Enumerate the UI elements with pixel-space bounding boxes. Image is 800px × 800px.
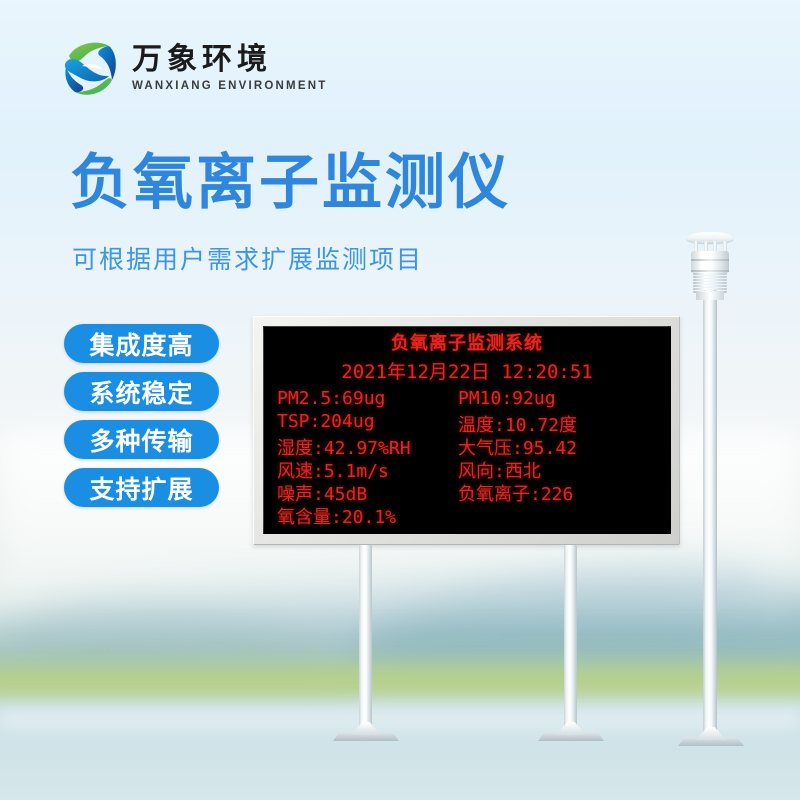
feature-badge-3-label: 多种传输: [89, 422, 193, 458]
feature-badge-list: 集成度高 系统稳定 多种传输 支持扩展: [64, 324, 219, 507]
base-plate-left: [333, 722, 399, 742]
led-reading-oxygen: 氧含量:20.1%: [263, 503, 443, 529]
shield-louver: [693, 285, 727, 287]
shield-louver: [693, 279, 727, 281]
feature-badge-3: 多种传输: [64, 420, 219, 459]
led-reading-row: 风速:5.1m/s 风向:西北: [263, 457, 671, 480]
brand-name-en: WANXIANG ENVIRONMENT: [132, 81, 327, 93]
page-subtitle: 可根据用户需求扩展监测项目: [72, 240, 423, 276]
sensor-band: [691, 259, 729, 261]
led-reading-row: 噪声:45dB 负氧离子:226: [263, 480, 671, 503]
led-title: 负氧离子监测系统: [263, 329, 671, 355]
shield-louver: [693, 282, 727, 284]
led-screen: 负氧离子监测系统 2021年12月22日 12:20:51 PM2.5:69ug…: [263, 326, 671, 534]
brand-logo: 万象环境 WANXIANG ENVIRONMENT: [62, 36, 327, 102]
radiation-shield: [693, 273, 727, 294]
base-cone-icon: [351, 722, 381, 735]
globe-swirl-logo-icon: [62, 36, 120, 102]
led-reading-pm25: PM2.5:69ug: [263, 388, 443, 409]
led-reading-row: 氧含量:20.1%: [263, 503, 671, 526]
brand-name-cn: 万象环境: [132, 45, 327, 75]
feature-badge-1-label: 集成度高: [89, 326, 193, 362]
product-banner: 万象环境 WANXIANG ENVIRONMENT 负氧离子监测仪 可根据用户需…: [0, 0, 800, 800]
base-plate-right: [538, 722, 604, 742]
led-reading-row: TSP:204ug 温度:10.72度: [263, 411, 671, 434]
led-readings-grid: PM2.5:69ug PM10:92ug TSP:204ug 温度:10.72度…: [263, 388, 671, 520]
led-reading-row: PM2.5:69ug PM10:92ug: [263, 388, 671, 411]
feature-badge-2-label: 系统稳定: [89, 374, 193, 410]
feature-badge-1: 集成度高: [64, 324, 219, 363]
feature-badge-2: 系统稳定: [64, 372, 219, 411]
shield-louver: [693, 276, 727, 278]
sensor-band: [691, 270, 729, 272]
feature-badge-4-label: 支持扩展: [89, 470, 193, 506]
led-datetime: 2021年12月22日 12:20:51: [263, 357, 671, 384]
feature-badge-4: 支持扩展: [64, 468, 219, 507]
shield-louver: [693, 273, 727, 275]
led-reading-negative-ions: 负氧离子:226: [443, 480, 573, 506]
led-reading-row: 湿度:42.97%RH 大气压:95.42: [263, 434, 671, 457]
ultrasonic-weather-sensor-icon: [684, 232, 736, 294]
support-pole-right: [564, 545, 577, 737]
base-cone-icon: [696, 727, 726, 740]
led-reading-tsp: TSP:204ug: [263, 411, 443, 432]
support-pole-left: [359, 545, 372, 737]
sensor-neck: [696, 292, 724, 300]
led-display-board: 负氧离子监测系统 2021年12月22日 12:20:51 PM2.5:69ug…: [253, 316, 680, 545]
base-cone-icon: [556, 722, 586, 735]
mast-pole: [703, 290, 717, 742]
shield-louver: [693, 288, 727, 290]
base-plate-mast: [678, 727, 744, 747]
page-title: 负氧离子监测仪: [70, 153, 511, 213]
led-reading-pm10: PM10:92ug: [443, 388, 556, 409]
